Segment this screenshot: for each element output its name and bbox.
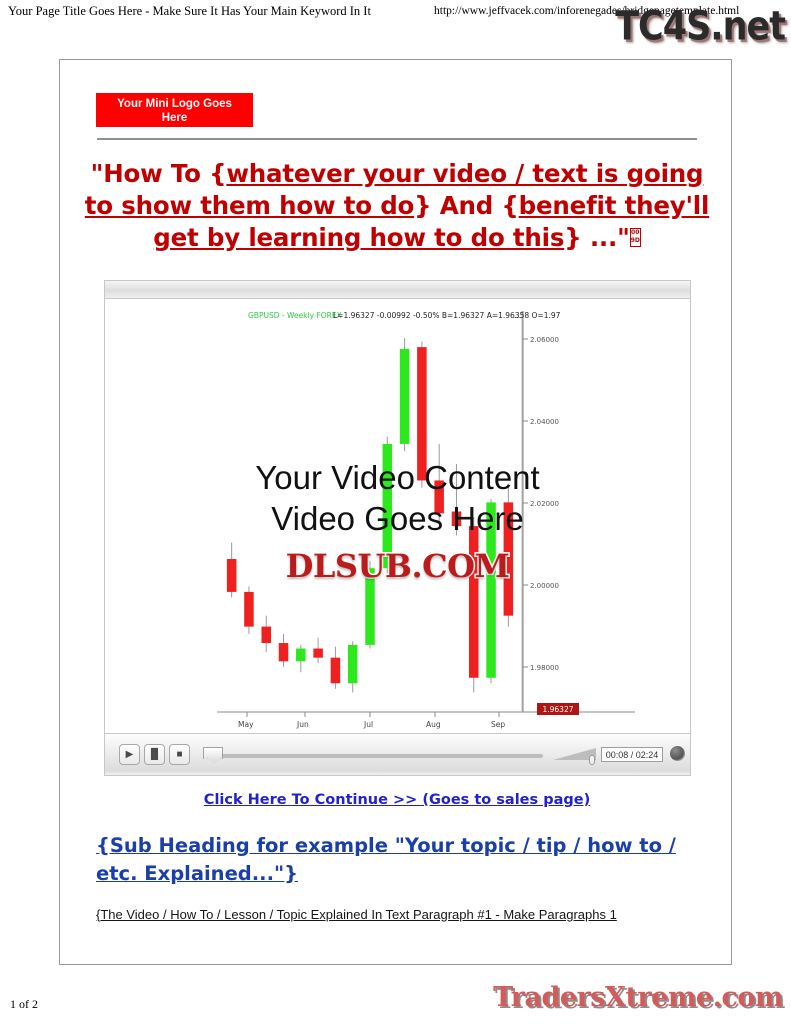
headline-part5: } ..." xyxy=(564,223,629,252)
svg-text:GBPUSD - Weekly FOREX: GBPUSD - Weekly FOREX xyxy=(248,311,342,320)
svg-text:2.04000: 2.04000 xyxy=(530,418,559,426)
page-title: Your Page Title Goes Here - Make Sure It… xyxy=(8,4,371,19)
stop-button[interactable]: ■ xyxy=(169,744,190,765)
svg-text:Aug: Aug xyxy=(426,720,441,729)
svg-text:L=1.96327 -0.00992 -0.50% B: L=1.96327 -0.00992 -0.50% B=1.96327 A=1.… xyxy=(333,311,561,320)
svg-text:...: ... xyxy=(514,311,521,320)
headline: "How To {whatever your video / text is g… xyxy=(82,158,712,254)
pause-icon: ▐▌ xyxy=(145,745,164,764)
page-sheet: Your Mini Logo Goes Here "How To {whatev… xyxy=(59,59,732,965)
mini-logo-line1: Your Mini Logo Goes xyxy=(96,97,253,111)
svg-text:2.02000: 2.02000 xyxy=(530,500,559,508)
volume-knob[interactable] xyxy=(589,755,595,765)
headline-part3: } And { xyxy=(414,191,518,220)
svg-text:Sep: Sep xyxy=(491,720,505,729)
svg-text:Jul: Jul xyxy=(363,720,373,729)
mini-logo-line2: Here xyxy=(96,111,253,125)
body-paragraph: {The Video / How To / Lesson / Topic Exp… xyxy=(96,906,716,924)
mini-logo: Your Mini Logo Goes Here xyxy=(96,93,253,127)
svg-text:May: May xyxy=(238,720,254,729)
page-content: Your Mini Logo Goes Here "How To {whatev… xyxy=(60,60,731,964)
player-topbar xyxy=(105,281,690,299)
svg-text:1.98000: 1.98000 xyxy=(530,664,559,672)
player-controls[interactable]: ▶ ▐▌ ■ 00:08 / 02:24 xyxy=(105,733,690,775)
svg-text:Jun: Jun xyxy=(296,720,309,729)
video-stage[interactable]: 2.06000 2.04000 2.02000 2.00000 1.98000 … xyxy=(105,299,690,733)
cta-link[interactable]: Click Here To Continue >> (Goes to sales… xyxy=(82,792,712,808)
header-divider xyxy=(97,138,697,141)
tradersxtreme-watermark: TradersXtreme.com xyxy=(493,982,783,1013)
stop-icon: ■ xyxy=(170,745,189,764)
play-icon: ▶ xyxy=(120,745,139,764)
pause-button[interactable]: ▐▌ xyxy=(144,744,165,765)
candlestick-chart: 2.06000 2.04000 2.02000 2.00000 1.98000 … xyxy=(105,299,690,733)
video-player[interactable]: 2.06000 2.04000 2.02000 2.00000 1.98000 … xyxy=(104,280,691,776)
time-display: 00:08 / 02:24 xyxy=(601,747,663,762)
sub-heading-link[interactable]: {Sub Heading for example "Your topic / t… xyxy=(96,832,716,888)
page-number: 1 of 2 xyxy=(10,997,38,1012)
svg-text:2.06000: 2.06000 xyxy=(530,336,559,344)
seek-handle[interactable] xyxy=(203,747,223,759)
last-price-tag: 1.96327 xyxy=(537,703,579,715)
headline-part1: "How To { xyxy=(91,159,227,188)
seek-bar[interactable] xyxy=(205,754,543,758)
tc4s-watermark: TC4S.net xyxy=(615,4,785,50)
fullscreen-icon[interactable] xyxy=(670,746,685,761)
missing-glyph-icon: 00 9D xyxy=(630,228,641,247)
svg-text:1.96327: 1.96327 xyxy=(542,705,573,714)
svg-text:2.00000: 2.00000 xyxy=(530,582,559,590)
play-button[interactable]: ▶ xyxy=(119,744,140,765)
